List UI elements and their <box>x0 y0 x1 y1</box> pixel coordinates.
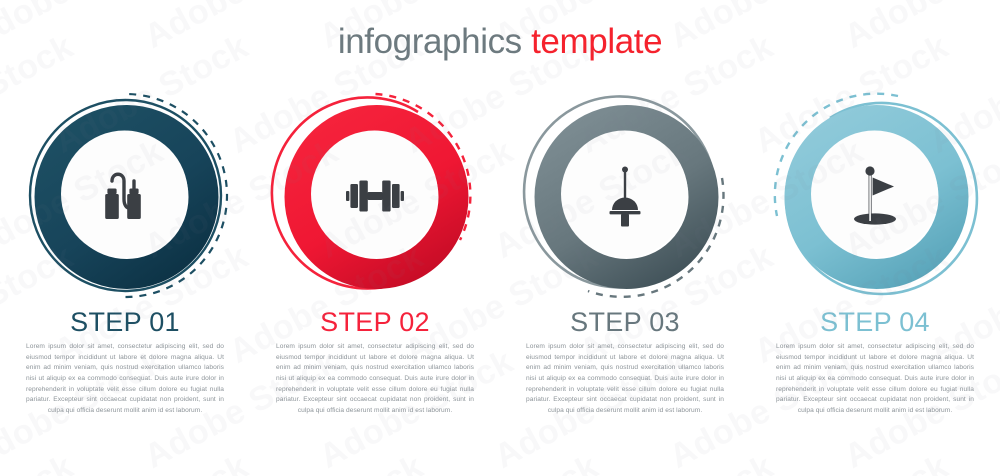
step-label-1: STEP 01 <box>70 309 180 336</box>
title-primary: infographics <box>338 22 522 61</box>
watermark-text: Adobe Stock <box>223 447 430 476</box>
step-badge-3[interactable] <box>518 88 733 303</box>
step-column-4: STEP 04 Lorem ipsum dolor sit amet, cons… <box>750 88 1000 417</box>
jump-rope-icon <box>18 88 233 303</box>
step-body-1: Lorem ipsum dolor sit amet, consectetur … <box>26 342 224 417</box>
step-badge-1[interactable] <box>18 88 233 303</box>
step-column-3: STEP 03 Lorem ipsum dolor sit amet, cons… <box>500 88 750 417</box>
watermark-text: Adobe Stock <box>923 447 1000 476</box>
watermark-text: Adobe Stock <box>573 447 780 476</box>
step-column-1: STEP 01 Lorem ipsum dolor sit amet, cons… <box>0 88 250 417</box>
page-title: infographics template <box>0 22 1000 62</box>
steps-row: STEP 01 Lorem ipsum dolor sit amet, cons… <box>0 88 1000 417</box>
dumbbell-icon <box>268 88 483 303</box>
fencing-sword-icon <box>518 88 733 303</box>
title-accent: template <box>531 22 662 61</box>
watermark-text: Adobe Stock <box>748 447 955 476</box>
watermark-text: Adobe Stock <box>0 447 80 476</box>
step-badge-2[interactable] <box>268 88 483 303</box>
step-label-3: STEP 03 <box>570 309 680 336</box>
step-badge-4[interactable] <box>768 88 983 303</box>
step-body-2: Lorem ipsum dolor sit amet, consectetur … <box>276 342 474 417</box>
step-column-2: STEP 02 Lorem ipsum dolor sit amet, cons… <box>250 88 500 417</box>
golf-flag-icon <box>768 88 983 303</box>
watermark-text: Adobe Stock <box>48 447 255 476</box>
step-body-3: Lorem ipsum dolor sit amet, consectetur … <box>526 342 724 417</box>
step-body-4: Lorem ipsum dolor sit amet, consectetur … <box>776 342 974 417</box>
watermark-text: Adobe Stock <box>398 447 605 476</box>
step-label-4: STEP 04 <box>820 309 930 336</box>
step-label-2: STEP 02 <box>320 309 430 336</box>
